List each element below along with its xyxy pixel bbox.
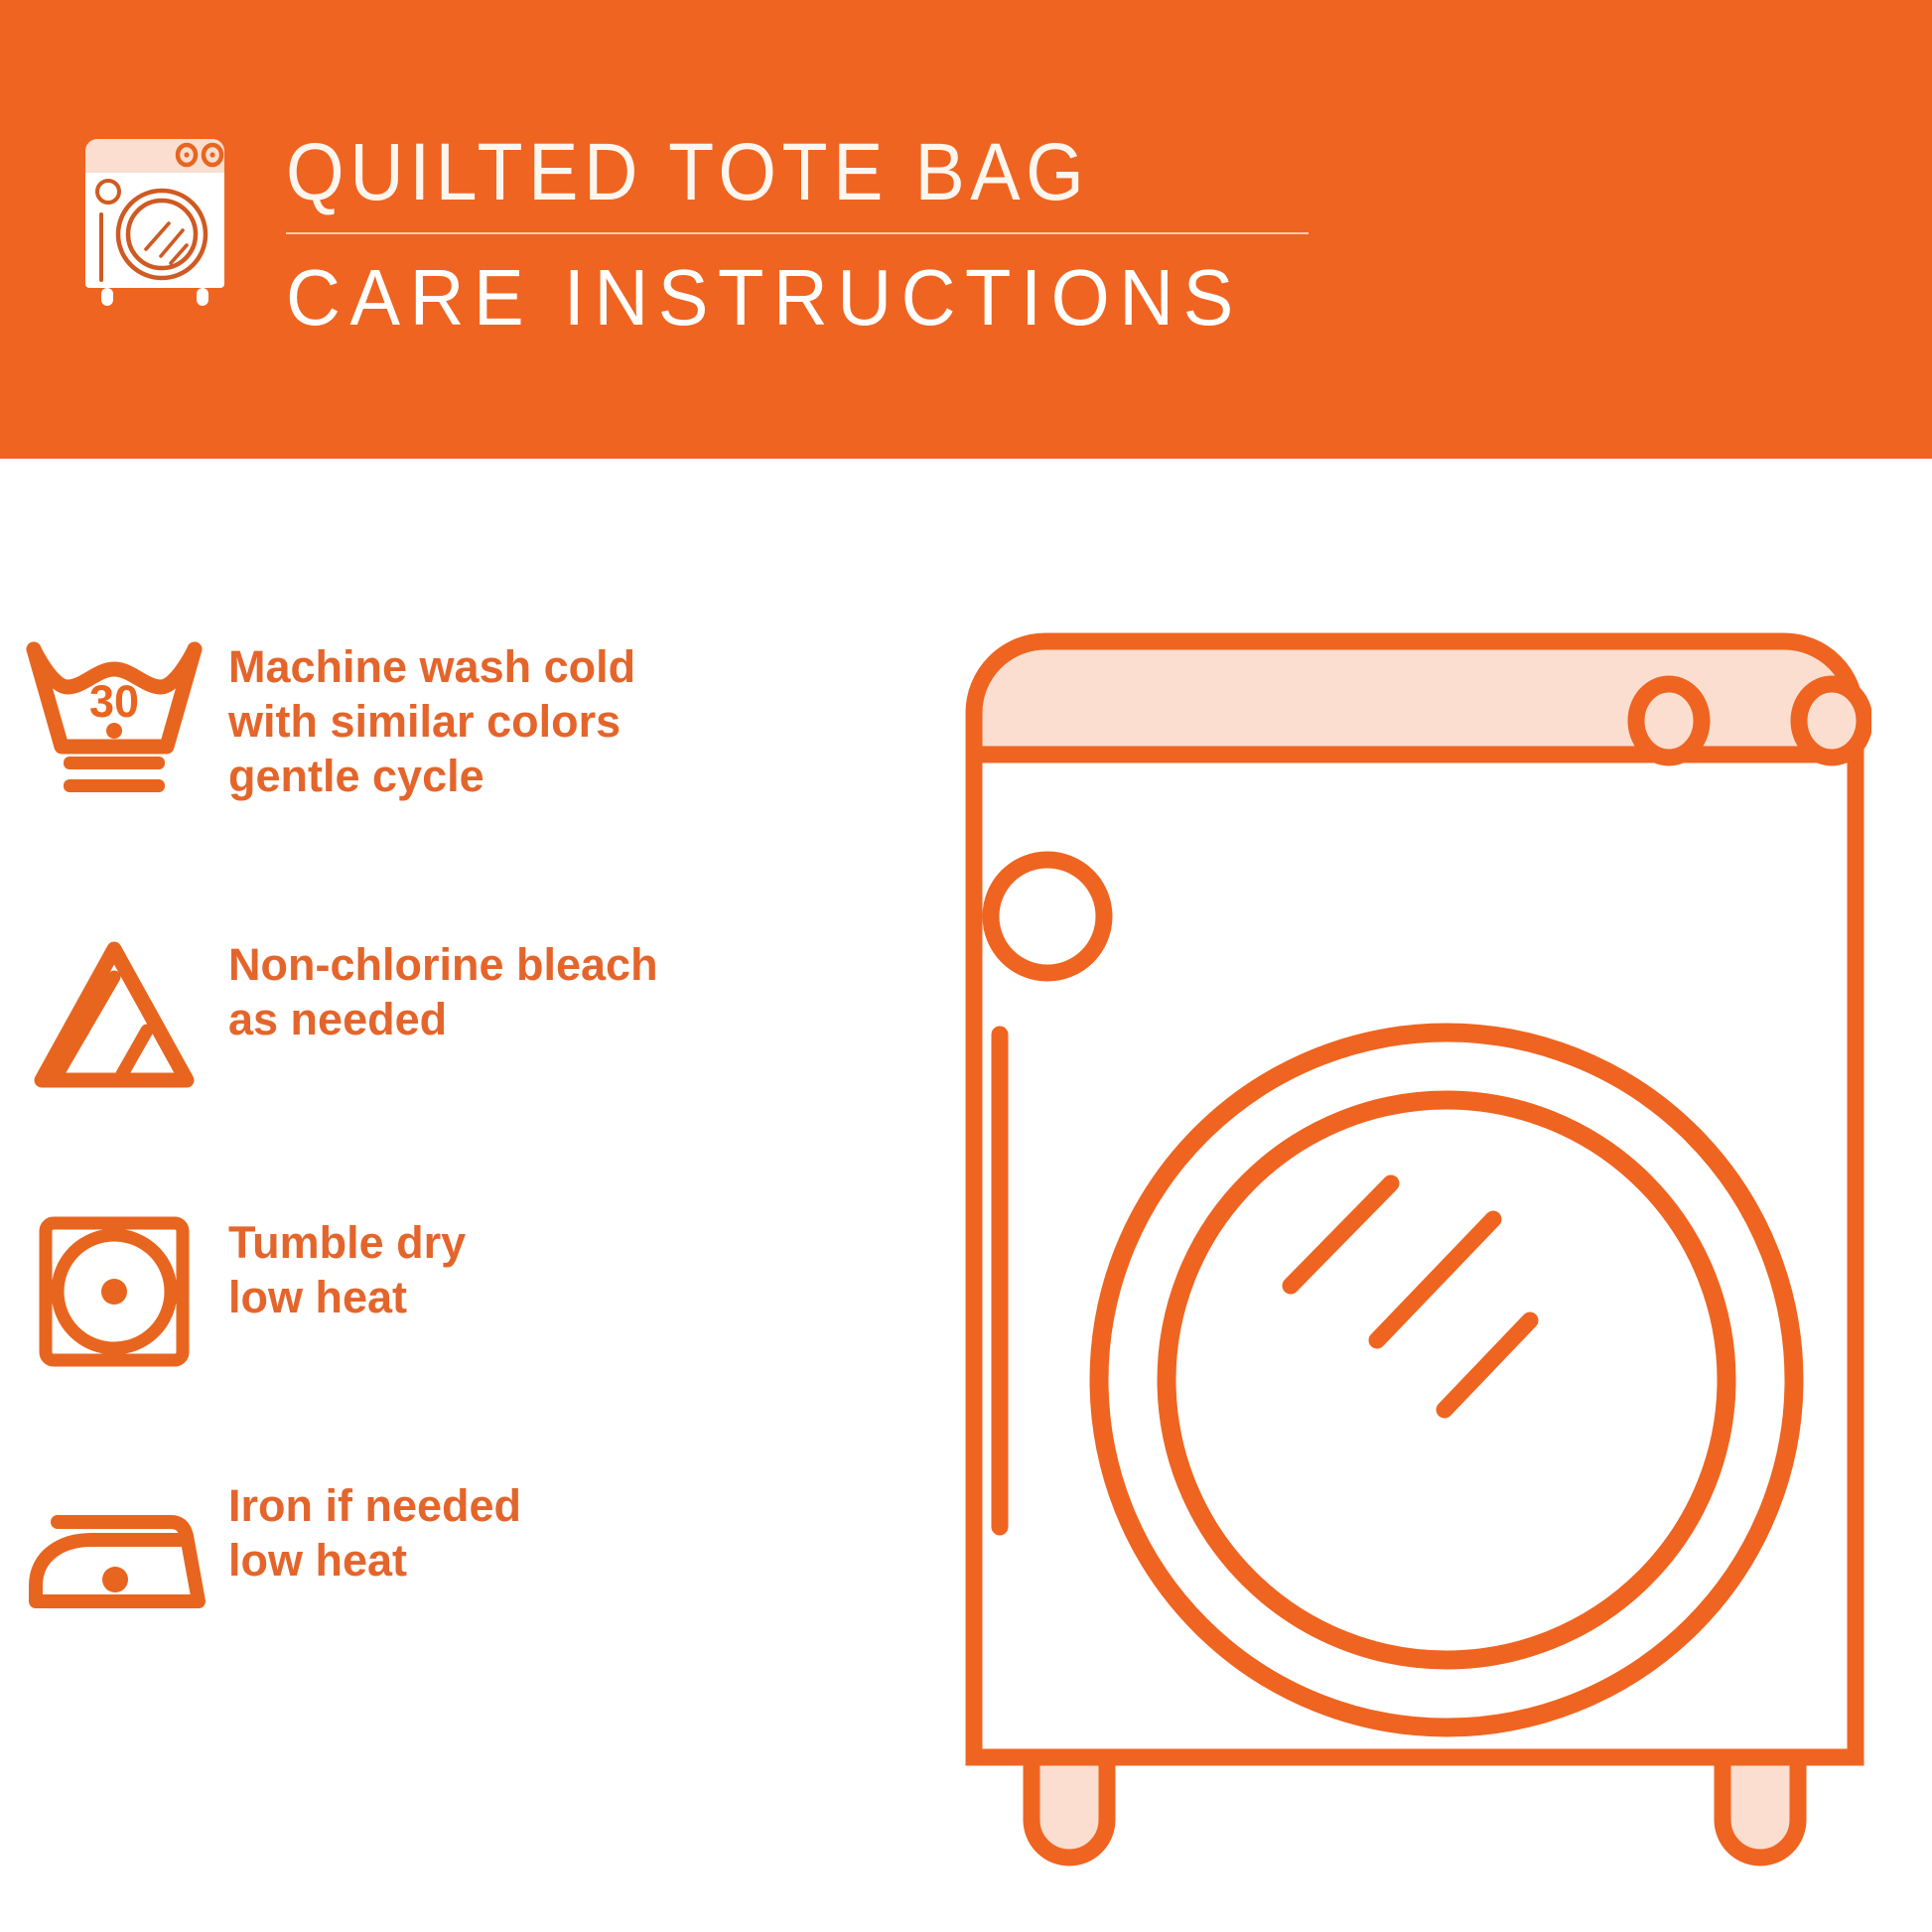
care-item-tumble-dry: Tumble dry low heat <box>0 1211 953 1375</box>
header-text-block: QUILTED TOTE BAG CARE INSTRUCTIONS <box>286 127 1328 344</box>
header-banner: QUILTED TOTE BAG CARE INSTRUCTIONS <box>0 0 1932 459</box>
washing-machine-icon <box>77 131 232 310</box>
care-line: gentle cycle <box>228 749 635 803</box>
care-line: with similar colors <box>228 694 635 749</box>
care-item-iron: Iron if needed low heat <box>0 1474 953 1638</box>
non-chlorine-bleach-icon <box>0 933 228 1097</box>
machine-wash-30-gentle-icon: 30 <box>0 635 228 799</box>
care-line: Machine wash cold <box>228 639 635 694</box>
care-item-wash: 30 Machine wash cold with similar colors… <box>0 635 953 803</box>
large-washing-machine-illustration <box>958 625 1871 1876</box>
title-divider <box>286 232 1309 234</box>
iron-low-heat-icon <box>0 1474 228 1638</box>
care-item-iron-label: Iron if needed low heat <box>228 1474 521 1587</box>
care-line: as needed <box>228 992 658 1046</box>
care-line: Non-chlorine bleach <box>228 937 658 992</box>
care-item-bleach-label: Non-chlorine bleach as needed <box>228 933 658 1046</box>
care-line: low heat <box>228 1533 521 1587</box>
tumble-dry-low-heat-icon <box>0 1211 228 1375</box>
care-item-wash-label: Machine wash cold with similar colors ge… <box>228 635 635 803</box>
care-line: Iron if needed <box>228 1478 521 1533</box>
knob-right <box>1799 684 1864 758</box>
care-line: low heat <box>228 1270 466 1324</box>
care-item-bleach: Non-chlorine bleach as needed <box>0 933 953 1097</box>
page-title: QUILTED TOTE BAG <box>286 127 1245 218</box>
care-item-tumble-dry-label: Tumble dry low heat <box>228 1211 466 1324</box>
care-line: Tumble dry <box>228 1215 466 1270</box>
knob-left <box>1636 684 1702 758</box>
wash-temperature-label: 30 <box>89 676 139 727</box>
control-panel <box>974 641 1856 755</box>
page-subtitle: CARE INSTRUCTIONS <box>286 252 1277 344</box>
